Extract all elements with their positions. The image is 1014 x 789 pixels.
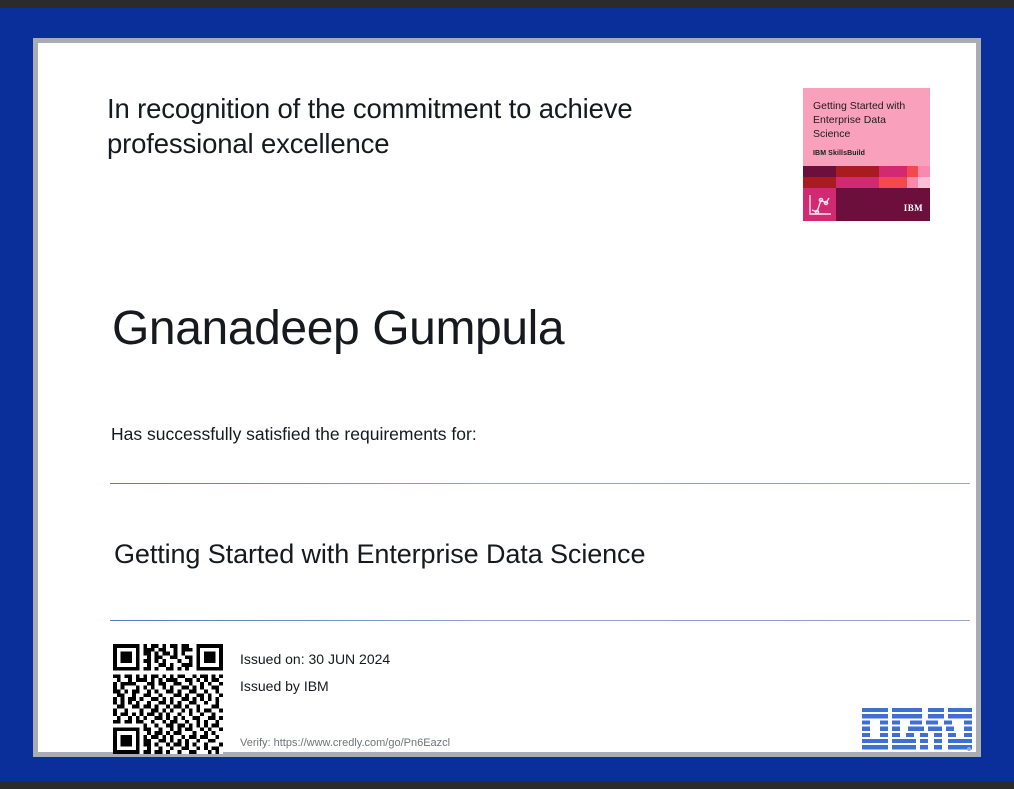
badge-program-label: IBM SkillsBuild <box>813 150 865 157</box>
badge-footer-panel: IBM <box>803 188 930 221</box>
badge-ibm-wordmark: IBM <box>904 203 923 213</box>
line-chart-icon <box>803 188 836 221</box>
certificate-blue-border: In recognition of the commitment to achi… <box>0 8 1014 781</box>
recognition-headline: In recognition of the commitment to achi… <box>107 91 727 161</box>
badge-stripe-row-bottom <box>803 177 930 188</box>
certificate-page: In recognition of the commitment to achi… <box>0 0 1014 789</box>
badge-stripe-row-top <box>803 166 930 177</box>
issued-on-text: Issued on: 30 JUN 2024 <box>240 651 390 667</box>
certificate-card: In recognition of the commitment to achi… <box>38 43 976 752</box>
recipient-name: Gnanadeep Gumpula <box>112 301 564 356</box>
divider-bottom <box>110 620 970 621</box>
course-badge: Getting Started with Enterprise Data Sci… <box>803 88 930 221</box>
course-title: Getting Started with Enterprise Data Sci… <box>114 539 645 570</box>
badge-title: Getting Started with Enterprise Data Sci… <box>813 100 923 142</box>
issued-by-text: Issued by IBM <box>240 678 329 694</box>
divider-top <box>110 483 970 484</box>
verification-url[interactable]: Verify: https://www.credly.com/go/Pn6Eaz… <box>240 737 450 749</box>
requirements-subtext: Has successfully satisfied the requireme… <box>111 424 477 445</box>
ibm-logo <box>862 708 972 753</box>
verification-qr-code[interactable] <box>113 644 223 754</box>
